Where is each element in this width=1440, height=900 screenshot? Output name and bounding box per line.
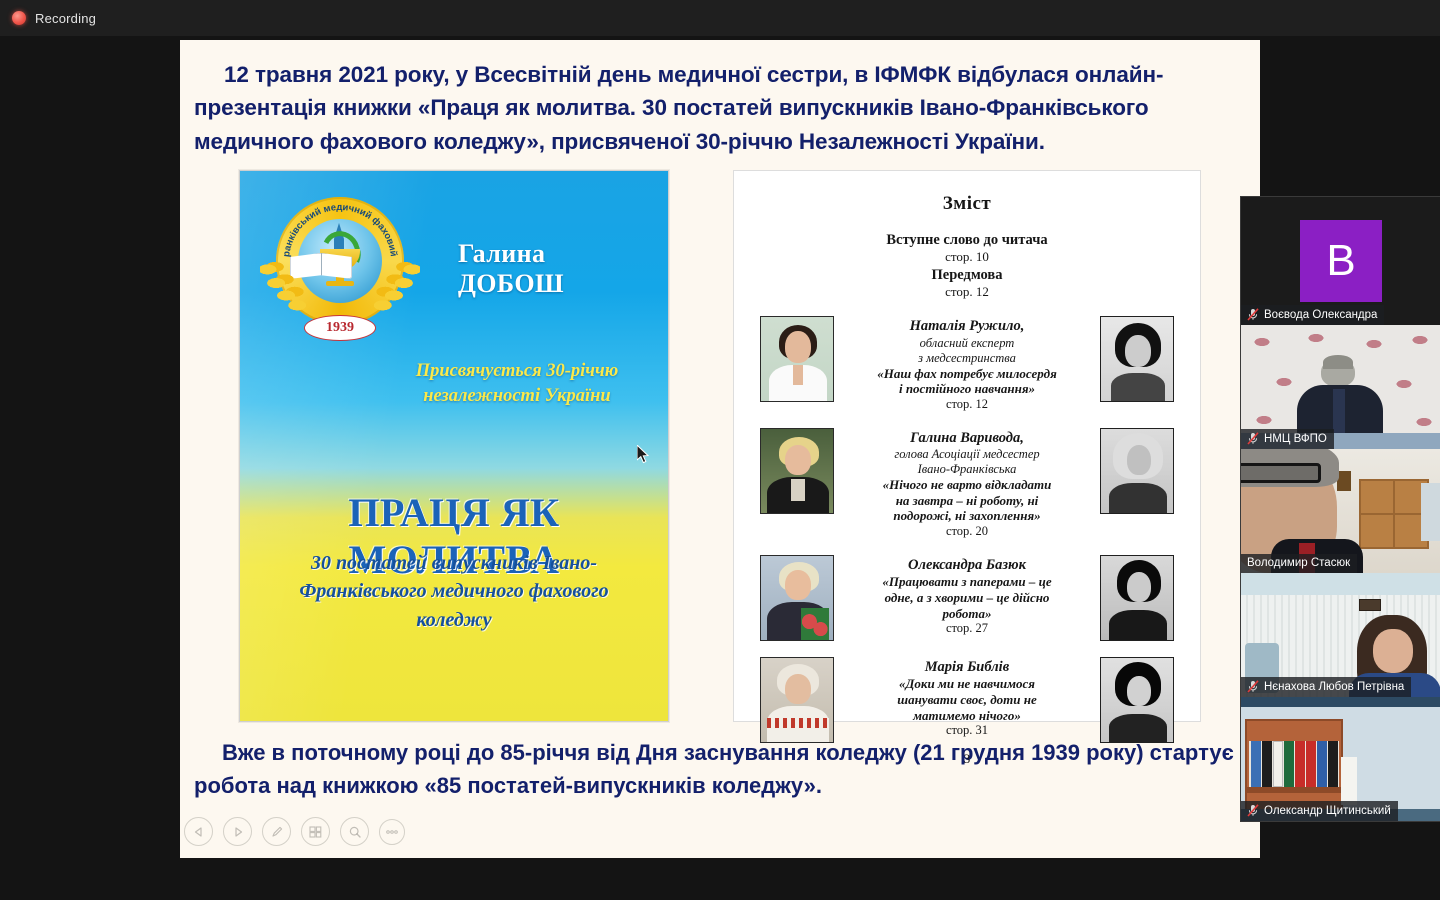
contents-page-image: Зміст Вступне слово до читача стор. 10 П…	[733, 170, 1201, 722]
front-matter-label: Передмова	[760, 266, 1174, 284]
entry-quote: «Наш фах потребує милосердя	[844, 366, 1090, 382]
recording-indicator-icon	[12, 11, 26, 25]
entry-quote: «Нічого не варто відкладати	[844, 477, 1090, 493]
front-matter-label: Вступне слово до читача	[760, 231, 1174, 249]
entry-page: стор. 31	[844, 723, 1090, 738]
entry-text: Галина Варивода, голова Асоціації медсес…	[844, 428, 1090, 539]
participant-name: Воєвода Олександра	[1264, 309, 1377, 321]
entry-page: стор. 27	[844, 621, 1090, 636]
entry-name: Марія Библів	[844, 659, 1090, 676]
entry-quote: одне, а з хворими – це дійсно	[844, 590, 1090, 606]
entry-photo-color	[760, 316, 834, 402]
participant-name: Володимир Стасюк	[1247, 557, 1350, 569]
entry-photo-archive	[1100, 657, 1174, 743]
mouse-cursor-icon	[637, 445, 651, 465]
entry-photo-archive	[1100, 428, 1174, 514]
entry-role: Івано-Франківська	[844, 462, 1090, 477]
avatar: В	[1300, 220, 1382, 302]
entry-text: Наталія Ружило, обласний експерт з медсе…	[844, 316, 1090, 412]
participant-name-badge: НМЦ ВФПО	[1241, 429, 1334, 449]
front-matter-page: стор. 12	[760, 284, 1174, 300]
next-slide-button[interactable]	[223, 817, 252, 846]
slide-heading: 12 травня 2021 року, у Всесвітній день м…	[180, 40, 1260, 158]
participant-name-badge: Олександр Щитинський	[1241, 801, 1398, 821]
mic-off-icon	[1247, 680, 1259, 693]
participant-name: НМЦ ВФПО	[1264, 433, 1327, 445]
entry-quote: подорожі, ні захоплення»	[844, 508, 1090, 524]
entry-quote: і постійного навчання»	[844, 381, 1090, 397]
slide-heading-text: 12 травня 2021 року, у Всесвітній день м…	[194, 62, 1163, 154]
entry-name: Олександра Базюк	[844, 557, 1090, 574]
entry-name: Галина Варивода,	[844, 430, 1090, 447]
contents-page-number: 3	[760, 751, 1174, 767]
entry-name: Наталія Ружило,	[844, 318, 1090, 335]
participant-tile[interactable]: Нєнахова Любов Петрівна	[1241, 573, 1440, 697]
contents-title: Зміст	[760, 193, 1174, 215]
zoom-button[interactable]	[340, 817, 369, 846]
powerpoint-presenter-toolbar[interactable]	[184, 817, 405, 846]
all-slides-button[interactable]	[301, 817, 330, 846]
entry-role: обласний експерт	[844, 336, 1090, 351]
more-options-button[interactable]	[379, 819, 405, 845]
college-emblem-icon: Івано-Франківський медичний фаховий коле…	[260, 193, 420, 353]
entry-text: Олександра Базюк «Працювати з паперами –…	[844, 555, 1090, 636]
recording-label: Recording	[35, 11, 96, 26]
contents-front-matter: Вступне слово до читача стор. 10 Передмо…	[760, 231, 1174, 300]
contents-entry: Олександра Базюк «Працювати з паперами –…	[760, 555, 1174, 641]
previous-slide-button[interactable]	[184, 817, 213, 846]
entry-role: голова Асоціації медсестер	[844, 447, 1090, 462]
slide-images-row: Івано-Франківський медичний фаховий коле…	[180, 170, 1260, 722]
entry-quote: на завтра – ні роботу, ні	[844, 493, 1090, 509]
entry-photo-archive	[1100, 555, 1174, 641]
participant-tile[interactable]: Олександр Щитинський	[1241, 697, 1440, 821]
entry-photo-color	[760, 428, 834, 514]
screen-share-window: Recording 12 травня 2021 року, у Всесвіт…	[0, 0, 1440, 900]
book-subtitle: 30 постатей випускників Івано-Франківськ…	[282, 549, 626, 634]
entry-photo-color	[760, 555, 834, 641]
contents-entry: Галина Варивода, голова Асоціації медсес…	[760, 428, 1174, 539]
participant-name-badge: Нєнахова Любов Петрівна	[1241, 677, 1411, 697]
participant-tile[interactable]: Володимир Стасюк	[1241, 449, 1440, 573]
entry-photo-archive	[1100, 316, 1174, 402]
book-cover-image: Івано-Франківський медичний фаховий коле…	[239, 170, 669, 722]
participants-video-rail[interactable]: В Воєвода Олександра	[1240, 196, 1440, 822]
entry-quote: шанувати своє, доти не	[844, 692, 1090, 708]
participant-name: Нєнахова Любов Петрівна	[1264, 681, 1404, 693]
entry-quote: «Доки ми не навчимося	[844, 676, 1090, 692]
mic-off-icon	[1247, 432, 1259, 445]
entry-page: стор. 12	[844, 397, 1090, 412]
participant-tile[interactable]: В Воєвода Олександра	[1241, 197, 1440, 325]
entry-page: стор. 20	[844, 524, 1090, 539]
mic-off-icon	[1247, 308, 1259, 321]
front-matter-page: стор. 10	[760, 249, 1174, 265]
entry-photo-color	[760, 657, 834, 743]
entry-text: Марія Библів «Доки ми не навчимося шанув…	[844, 657, 1090, 738]
participant-name-badge: Воєвода Олександра	[1241, 305, 1384, 325]
presentation-slide[interactable]: 12 травня 2021 року, у Всесвітній день м…	[180, 40, 1260, 858]
book-author: Галина ДОБОШ	[458, 239, 658, 299]
entry-quote: робота»	[844, 606, 1090, 622]
entry-role: з медсестринства	[844, 351, 1090, 366]
entry-quote: матимемо нічого»	[844, 708, 1090, 724]
participant-tile[interactable]: НМЦ ВФПО	[1241, 325, 1440, 449]
pen-tool-button[interactable]	[262, 817, 291, 846]
entry-quote: «Працювати з паперами – це	[844, 574, 1090, 590]
slide-footer-text: Вже в поточному році до 85-річчя від Дня…	[194, 740, 1234, 798]
participant-name-badge: Володимир Стасюк	[1241, 554, 1357, 573]
recording-bar: Recording	[0, 0, 1440, 36]
contents-entry: Марія Библів «Доки ми не навчимося шанув…	[760, 657, 1174, 743]
mic-off-icon	[1247, 804, 1259, 817]
contents-entry: Наталія Ружило, обласний експерт з медсе…	[760, 316, 1174, 412]
emblem-year: 1939	[304, 315, 376, 341]
book-dedication: Присвячується 30-річчю незалежності Укра…	[372, 359, 662, 410]
participant-name: Олександр Щитинський	[1264, 805, 1391, 817]
